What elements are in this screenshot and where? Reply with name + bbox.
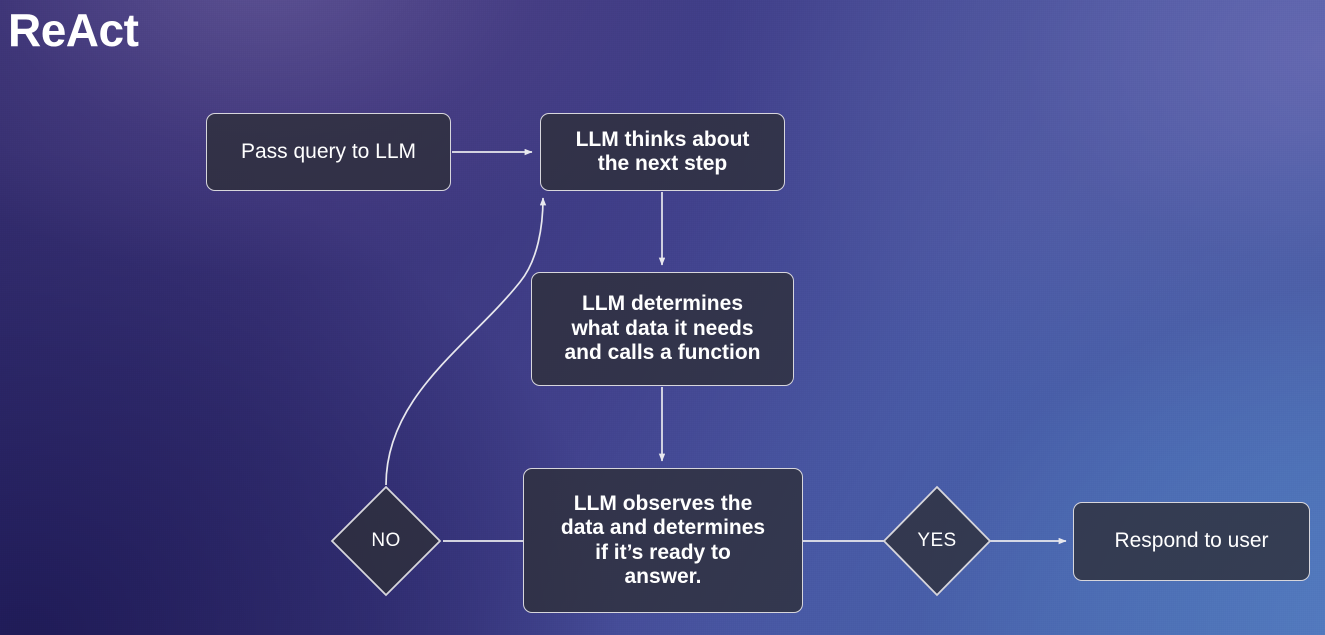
node-llm-observes-data-ready-to-answer[interactable]: LLM observes the data and determines if … [523,468,803,613]
decision-diamond-yes[interactable]: YES [882,485,992,597]
slide-canvas: ReAct [0,0,1325,635]
node-llm-determines-data-and-calls-function[interactable]: LLM determines what data it needs and ca… [531,272,794,386]
node-label: Respond to user [1114,529,1268,553]
page-title: ReAct [8,2,138,60]
node-label: LLM determines what data it needs and ca… [564,292,760,365]
decision-label-no: NO [371,530,400,552]
node-llm-thinks-about-next-step[interactable]: LLM thinks about the next step [540,113,785,191]
node-respond-to-user[interactable]: Respond to user [1073,502,1310,581]
decision-diamond-no[interactable]: NO [330,485,442,597]
node-label: LLM thinks about the next step [576,128,750,177]
node-pass-query-to-llm[interactable]: Pass query to LLM [206,113,451,191]
decision-label-yes: YES [917,530,956,552]
edge-decision-no-to-llm-thinks [386,198,543,485]
node-label: Pass query to LLM [241,140,416,164]
node-label: LLM observes the data and determines if … [561,492,765,589]
